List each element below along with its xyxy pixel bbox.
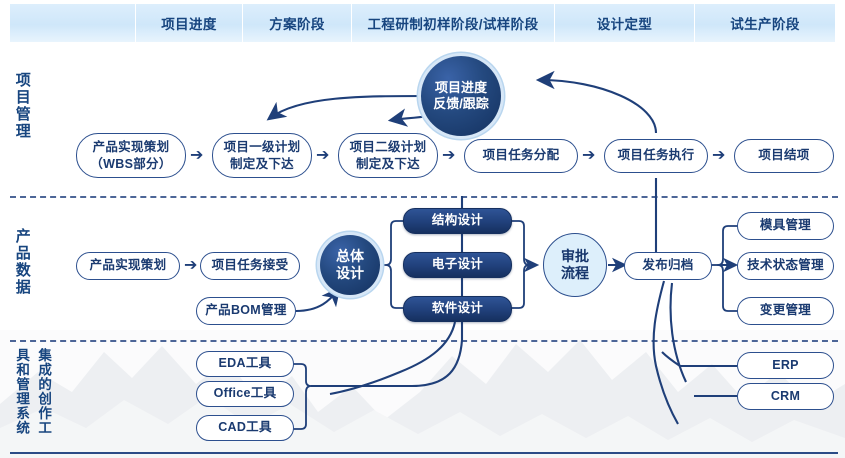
arrow-r1-5: ➔ xyxy=(712,148,725,164)
phase-header-bar: 项目进度 方案阶段 工程研制初样阶段/试样阶段 设计定型 试生产阶段 xyxy=(0,4,845,42)
header-col-3[interactable]: 工程研制初样阶段/试样阶段 xyxy=(351,4,554,42)
section-label-project-management: 项目管理 xyxy=(14,72,30,140)
node-level2-plan[interactable]: 项目二级计划 制定及下达 xyxy=(338,133,438,178)
section-label-tools-col2: 具和管理系统 xyxy=(14,348,28,435)
node-crm[interactable]: CRM xyxy=(737,383,834,410)
node-product-realization-planning[interactable]: 产品实现策划 （WBS部分） xyxy=(76,133,186,178)
node-electronic-design[interactable]: 电子设计 xyxy=(403,252,512,278)
node-software-design[interactable]: 软件设计 xyxy=(403,296,512,322)
arrow-r1-3: ➔ xyxy=(442,148,455,164)
node-task-execution[interactable]: 项目任务执行 xyxy=(604,139,708,173)
node-cad-tool[interactable]: CAD工具 xyxy=(196,415,294,441)
node-level1-plan[interactable]: 项目一级计划 制定及下达 xyxy=(212,133,312,178)
node-release-archive[interactable]: 发布归档 xyxy=(624,252,712,280)
node-mold-management[interactable]: 模具管理 xyxy=(737,212,834,240)
node-product-realization-planning-2[interactable]: 产品实现策划 xyxy=(76,252,180,280)
node-task-assignment[interactable]: 项目任务分配 xyxy=(464,139,578,173)
node-product-bom-management[interactable]: 产品BOM管理 xyxy=(196,297,296,325)
node-structural-design[interactable]: 结构设计 xyxy=(403,208,512,234)
arrow-r1-4: ➔ xyxy=(582,148,595,164)
header-blank-cell xyxy=(10,4,135,42)
header-col-1[interactable]: 项目进度 xyxy=(135,4,242,42)
header-col-2[interactable]: 方案阶段 xyxy=(242,4,351,42)
node-change-management[interactable]: 变更管理 xyxy=(737,297,834,325)
arrow-r1-1: ➔ xyxy=(190,148,203,164)
bottom-rule xyxy=(10,452,838,454)
node-erp[interactable]: ERP xyxy=(737,352,834,379)
header-col-4[interactable]: 设计定型 xyxy=(554,4,694,42)
divider-row2-row3 xyxy=(10,340,838,342)
approval-process-circle[interactable]: 审批 流程 xyxy=(543,233,607,297)
arrow-r1-2: ➔ xyxy=(316,148,329,164)
header-right-gutter xyxy=(835,4,845,42)
node-eda-tool[interactable]: EDA工具 xyxy=(196,351,294,377)
section-label-tools-col1: 集成的创作工 xyxy=(36,348,50,435)
divider-row1-row2 xyxy=(10,196,838,198)
section-label-product-data: 产品数据 xyxy=(14,228,30,296)
node-project-closure[interactable]: 项目结项 xyxy=(734,139,834,173)
header-col-5[interactable]: 试生产阶段 xyxy=(694,4,835,42)
node-task-acceptance[interactable]: 项目任务接受 xyxy=(200,252,300,280)
node-technical-state-management[interactable]: 技术状态管理 xyxy=(737,252,834,280)
node-office-tool[interactable]: Office工具 xyxy=(196,381,294,407)
feedback-circle[interactable]: 项目进度 反馈/跟踪 xyxy=(421,56,501,136)
overall-design-circle[interactable]: 总体 设计 xyxy=(320,235,380,295)
header-left-gutter xyxy=(0,4,10,42)
diagram-root: 项目进度 方案阶段 工程研制初样阶段/试样阶段 设计定型 试生产阶段 项目管理 … xyxy=(0,0,845,458)
arrow-r2-1: ➔ xyxy=(184,258,197,274)
